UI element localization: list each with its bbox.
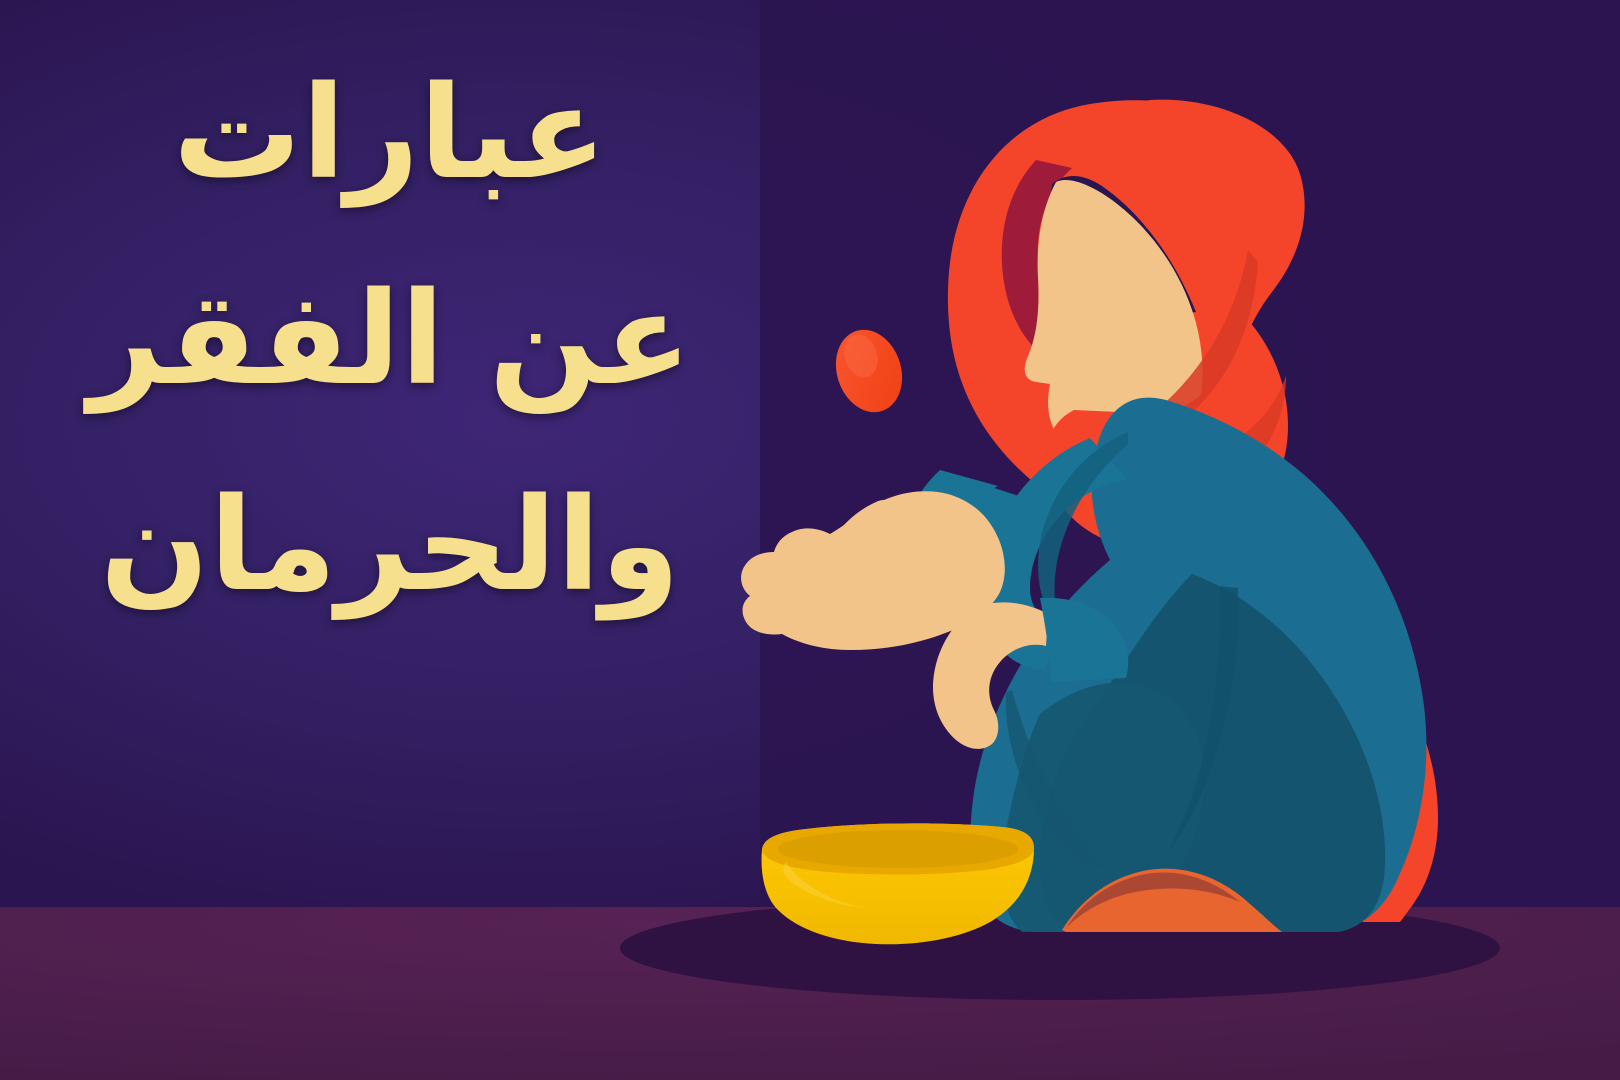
illustration-scene [0, 0, 1620, 1080]
poster-canvas: عبارات عن الفقر والحرمان [0, 0, 1620, 1080]
alms-bowl-inner [778, 830, 1018, 868]
